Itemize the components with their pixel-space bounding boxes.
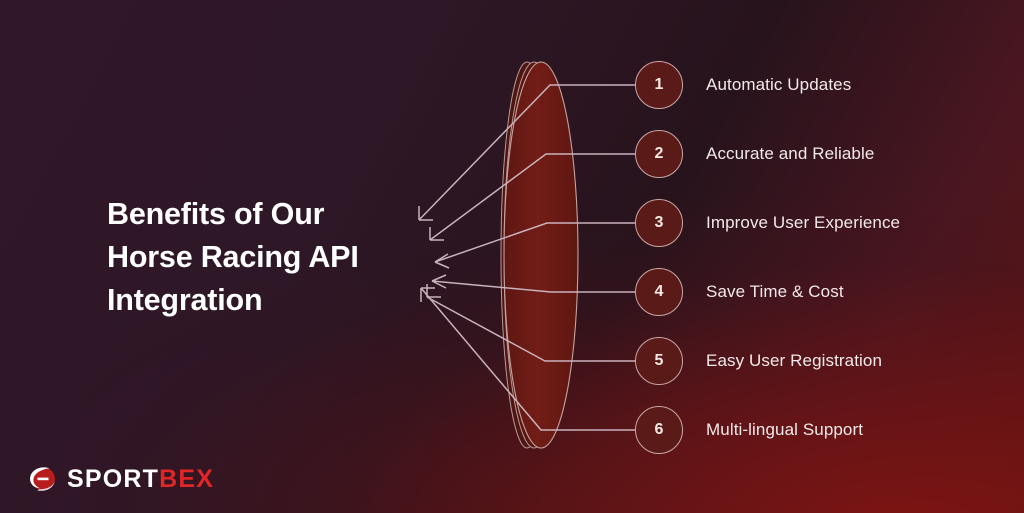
step-number-5: 5 (655, 352, 664, 370)
step-node-2[interactable]: 2 (635, 130, 683, 178)
step-node-3[interactable]: 3 (635, 199, 683, 247)
benefit-label-5: Easy User Registration (706, 351, 882, 371)
benefit-label-6: Multi-lingual Support (706, 420, 863, 440)
benefit-label-1: Automatic Updates (706, 75, 851, 95)
benefit-label-4: Save Time & Cost (706, 282, 844, 302)
connector-diagram (0, 0, 1024, 513)
benefit-label-2: Accurate and Reliable (706, 144, 874, 164)
arrowhead-5 (427, 284, 441, 297)
brand-logo: SPORTBEX (24, 462, 214, 496)
logo-wordmark: SPORTBEX (67, 467, 214, 492)
infographic-canvas: Benefits of Our Horse Racing API Integra… (0, 0, 1024, 513)
step-node-5[interactable]: 5 (635, 337, 683, 385)
logo-text-accent: BEX (159, 465, 214, 493)
swirl-icon (24, 463, 60, 495)
arrowhead-3 (435, 254, 449, 268)
step-node-4[interactable]: 4 (635, 268, 683, 316)
step-node-6[interactable]: 6 (635, 406, 683, 454)
logo-text-primary: SPORT (67, 465, 159, 493)
step-number-2: 2 (655, 145, 664, 163)
step-number-6: 6 (655, 421, 664, 439)
step-number-1: 1 (655, 76, 664, 94)
step-number-3: 3 (655, 214, 664, 232)
benefit-label-3: Improve User Experience (706, 213, 900, 233)
step-node-1[interactable]: 1 (635, 61, 683, 109)
step-number-4: 4 (655, 283, 664, 301)
